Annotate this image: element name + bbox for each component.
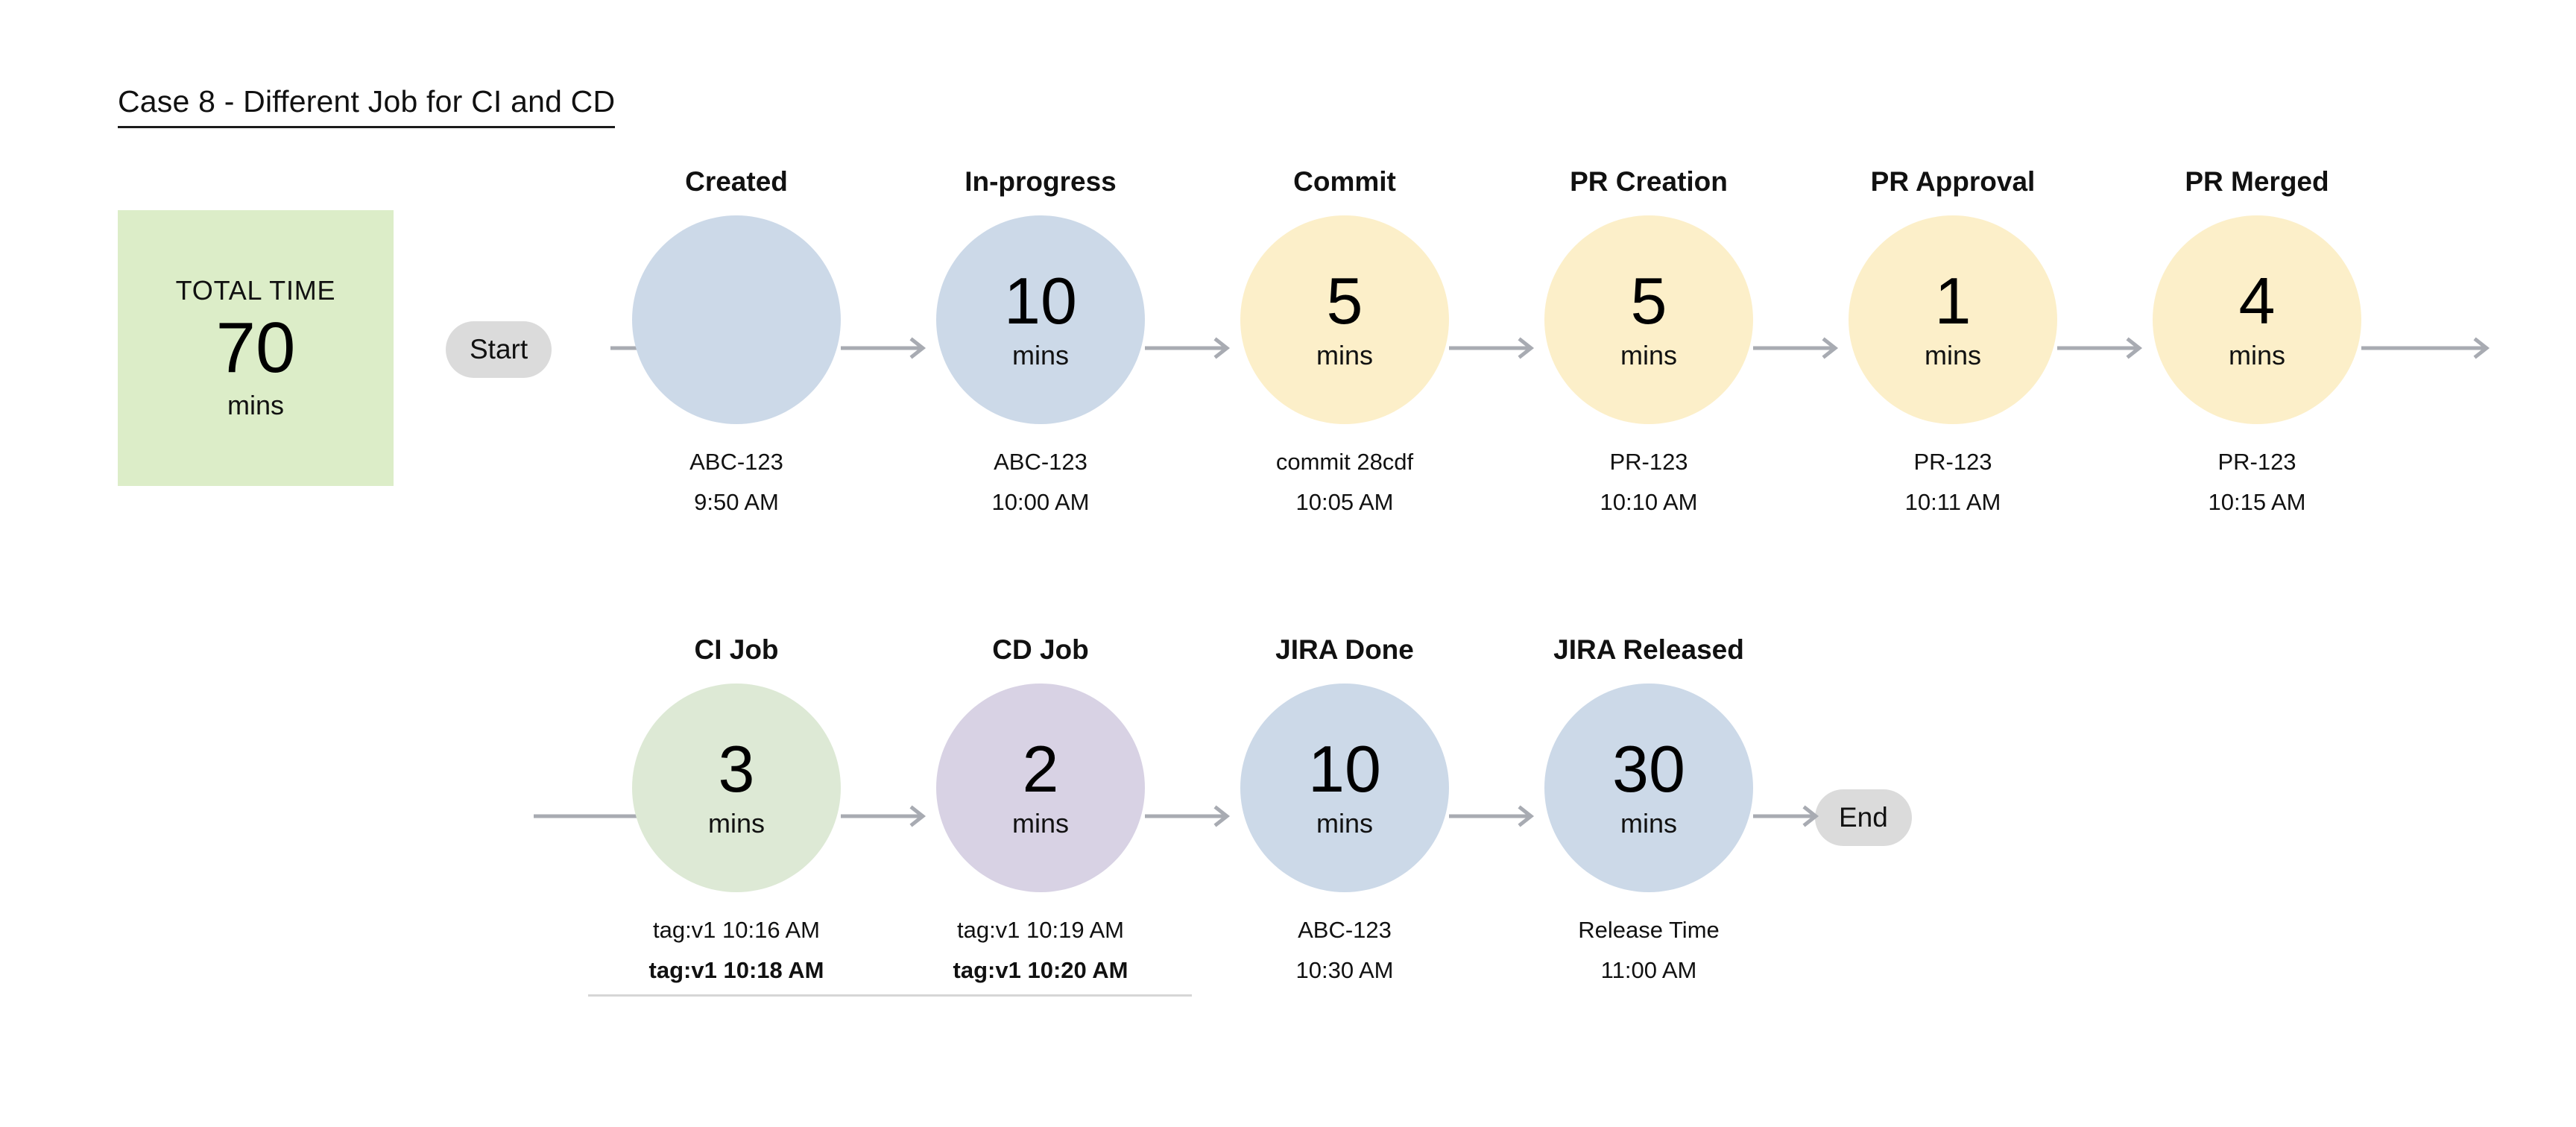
total-time-unit: mins [227, 390, 284, 421]
caption-line: PR-123 [1522, 442, 1775, 482]
caption-line: 10:00 AM [914, 482, 1167, 523]
end-node[interactable]: End [1815, 789, 1912, 846]
caption-line: PR-123 [1826, 442, 2080, 482]
caption-line: tag:v1 10:19 AM [914, 910, 1167, 950]
node-bubble[interactable]: 1 mins [1849, 215, 2057, 424]
node-title: Commit [1218, 164, 1471, 200]
start-node-label: Start [470, 334, 528, 365]
node-value: 10 [1004, 268, 1077, 334]
caption-divider [588, 994, 1192, 997]
node-title: CD Job [914, 632, 1167, 668]
node-unit: mins [2229, 340, 2285, 371]
total-time-card: TOTAL TIME 70 mins [118, 210, 394, 486]
node-ci-job[interactable]: CI Job 3 mins tag:v1 10:16 AM tag:v1 10:… [610, 632, 863, 991]
caption-line: 10:15 AM [2130, 482, 2384, 523]
node-unit: mins [1316, 340, 1373, 371]
caption-line: 10:05 AM [1218, 482, 1471, 523]
caption-line: 9:50 AM [610, 482, 863, 523]
caption-line: 10:30 AM [1218, 950, 1471, 991]
node-unit: mins [1620, 340, 1677, 371]
node-unit: mins [1925, 340, 1981, 371]
node-unit: mins [708, 808, 765, 839]
node-title: Created [610, 164, 863, 200]
node-bubble[interactable]: 10 mins [1240, 684, 1449, 892]
node-caption: tag:v1 10:16 AM tag:v1 10:18 AM [610, 910, 863, 991]
node-pr-merged[interactable]: PR Merged 4 mins PR-123 10:15 AM [2130, 164, 2384, 523]
node-jira-released[interactable]: JIRA Released 30 mins Release Time 11:00… [1522, 632, 1775, 991]
caption-line: PR-123 [2130, 442, 2384, 482]
node-pr-creation[interactable]: PR Creation 5 mins PR-123 10:10 AM [1522, 164, 1775, 523]
node-bubble[interactable]: 3 mins [632, 684, 841, 892]
node-unit: mins [1012, 340, 1069, 371]
node-created[interactable]: Created mins ABC-123 9:50 AM [610, 164, 863, 523]
total-time-label: TOTAL TIME [176, 275, 336, 306]
node-jira-done[interactable]: JIRA Done 10 mins ABC-123 10:30 AM [1218, 632, 1471, 991]
node-value: 5 [1327, 268, 1363, 334]
caption-line: ABC-123 [1218, 910, 1471, 950]
caption-line: 10:10 AM [1522, 482, 1775, 523]
node-caption: PR-123 10:10 AM [1522, 442, 1775, 523]
node-caption: commit 28cdf 10:05 AM [1218, 442, 1471, 523]
node-pr-approval[interactable]: PR Approval 1 mins PR-123 10:11 AM [1826, 164, 2080, 523]
caption-line: ABC-123 [610, 442, 863, 482]
node-caption: PR-123 10:15 AM [2130, 442, 2384, 523]
end-node-label: End [1839, 802, 1888, 833]
node-title: CI Job [610, 632, 863, 668]
node-caption: ABC-123 9:50 AM [610, 442, 863, 523]
node-value: 2 [1023, 736, 1059, 802]
node-value: 10 [1308, 736, 1381, 802]
node-bubble[interactable]: 5 mins [1240, 215, 1449, 424]
node-unit: mins [1012, 808, 1069, 839]
page-title-text: Case 8 - Different Job for CI and CD [118, 84, 615, 128]
node-caption: PR-123 10:11 AM [1826, 442, 2080, 523]
node-title: JIRA Released [1522, 632, 1775, 668]
node-value: 1 [1935, 268, 1972, 334]
node-caption: ABC-123 10:30 AM [1218, 910, 1471, 991]
node-bubble[interactable]: 10 mins [936, 215, 1145, 424]
caption-line: commit 28cdf [1218, 442, 1471, 482]
node-title: In-progress [914, 164, 1167, 200]
node-bubble[interactable]: mins [632, 215, 841, 424]
caption-line: Release Time [1522, 910, 1775, 950]
node-title: PR Creation [1522, 164, 1775, 200]
node-bubble[interactable]: 2 mins [936, 684, 1145, 892]
node-bubble[interactable]: 30 mins [1544, 684, 1753, 892]
node-title: JIRA Done [1218, 632, 1471, 668]
caption-line: 11:00 AM [1522, 950, 1775, 991]
node-unit: mins [1620, 808, 1677, 839]
node-cd-job[interactable]: CD Job 2 mins tag:v1 10:19 AM tag:v1 10:… [914, 632, 1167, 991]
total-time-value: 70 [216, 311, 296, 385]
node-unit: mins [1316, 808, 1373, 839]
node-value: 30 [1612, 736, 1685, 802]
caption-line: tag:v1 10:18 AM [610, 950, 863, 991]
node-value: 5 [1631, 268, 1667, 334]
page-title: Case 8 - Different Job for CI and CD [118, 84, 615, 128]
node-title: PR Approval [1826, 164, 2080, 200]
node-in-progress[interactable]: In-progress 10 mins ABC-123 10:00 AM [914, 164, 1167, 523]
node-title: PR Merged [2130, 164, 2384, 200]
node-value: 4 [2239, 268, 2276, 334]
caption-line: tag:v1 10:16 AM [610, 910, 863, 950]
node-caption: tag:v1 10:19 AM tag:v1 10:20 AM [914, 910, 1167, 991]
caption-line: tag:v1 10:20 AM [914, 950, 1167, 991]
node-caption: Release Time 11:00 AM [1522, 910, 1775, 991]
node-caption: ABC-123 10:00 AM [914, 442, 1167, 523]
start-node[interactable]: Start [446, 321, 552, 378]
node-bubble[interactable]: 4 mins [2153, 215, 2361, 424]
node-bubble[interactable]: 5 mins [1544, 215, 1753, 424]
node-commit[interactable]: Commit 5 mins commit 28cdf 10:05 AM [1218, 164, 1471, 523]
caption-line: 10:11 AM [1826, 482, 2080, 523]
caption-line: ABC-123 [914, 442, 1167, 482]
node-value: 3 [719, 736, 755, 802]
